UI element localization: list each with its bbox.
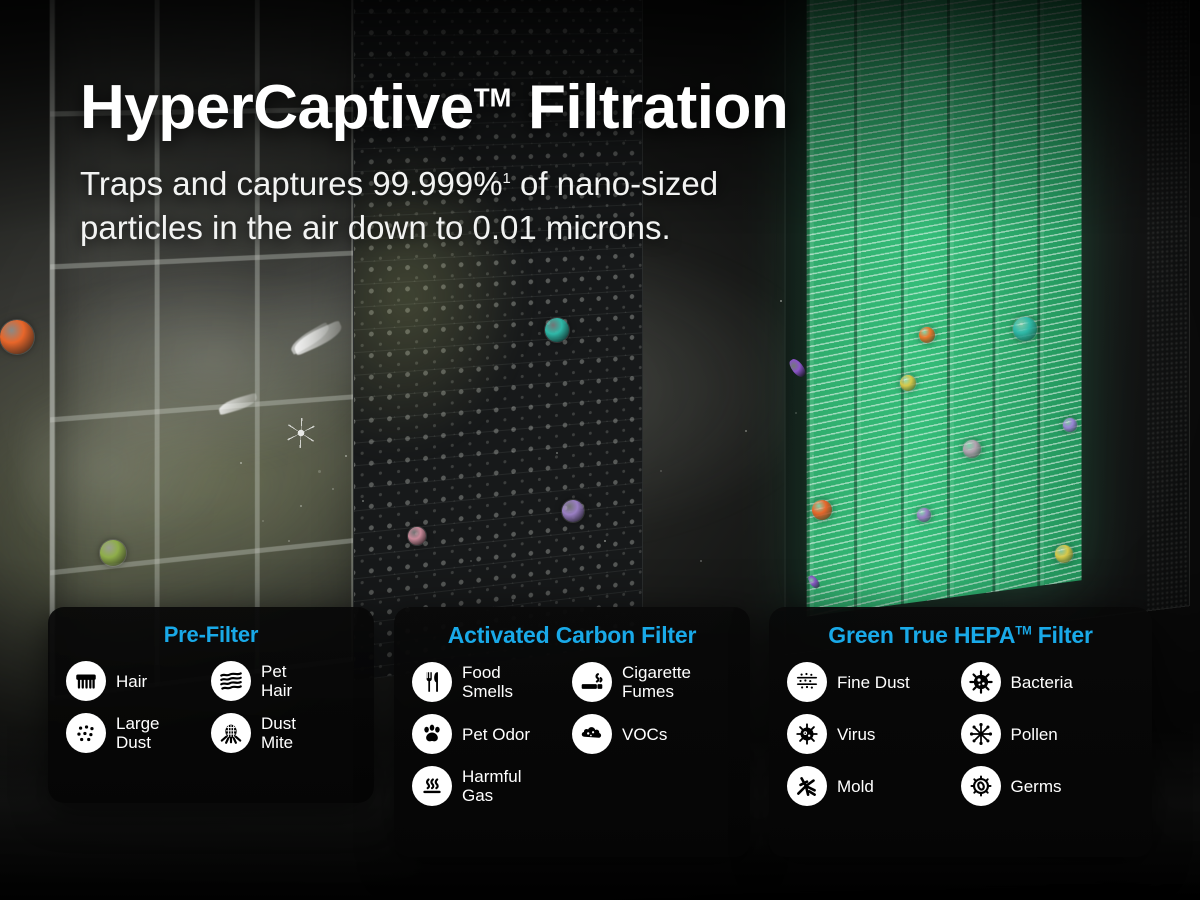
virus-particle-pink (408, 527, 426, 545)
hepa-trademark-symbol: TM (1015, 625, 1031, 637)
card-green-true-hepa-filter[interactable]: Green True HEPATM Filter Fine DustBacter… (769, 607, 1152, 857)
subline-part-1: Traps and captures 99.999% (80, 165, 503, 202)
feature-item-dust-mite: Dust Mite (211, 713, 356, 753)
fine-dust-speck (240, 462, 242, 464)
fine-dust-speck (345, 455, 347, 457)
virus-particle-violet (562, 500, 584, 522)
bacteria-yellow-2 (1055, 545, 1073, 563)
trademark-symbol: TM (474, 82, 512, 112)
virus-particle-teal-2 (1013, 317, 1037, 341)
hepa-title-main: Green True HEPA (828, 622, 1015, 648)
feature-label: Germs (1011, 777, 1062, 796)
harmful-gas-icon (412, 766, 452, 806)
fine-dust-speck (700, 560, 702, 562)
fine-dust-speck (318, 470, 321, 473)
subline-part-3: particles in the air down to 0.01 micron… (80, 209, 671, 246)
fine-dust-speck (288, 540, 290, 542)
fine-dust-speck (512, 600, 514, 602)
feature-item-virus: Virus (787, 714, 961, 754)
germs-icon (961, 766, 1001, 806)
feature-item-paw: Pet Odor (412, 714, 572, 754)
bacteria-yellow (900, 375, 916, 391)
comb-icon (66, 661, 106, 701)
feature-label: Bacteria (1011, 673, 1073, 692)
card-pre-filter[interactable]: Pre-Filter HairPet HairLarge DustDust Mi… (48, 607, 374, 803)
feature-item-mold: Mold (787, 766, 961, 806)
fine-dust-speck (660, 470, 662, 472)
feature-list-activated-carbon: Food SmellsCigarette FumesPet OdorVOCsHa… (412, 662, 732, 818)
card-title-activated-carbon: Activated Carbon Filter (412, 623, 732, 648)
infographic-stage: HyperCaptiveTM Filtration Traps and capt… (0, 0, 1200, 900)
feature-item-bacteria: Bacteria (961, 662, 1135, 702)
feature-label: Pet Hair (261, 662, 292, 700)
headline-rest: Filtration (511, 73, 788, 142)
virus-particle-teal (545, 318, 569, 342)
bacteria-icon (961, 662, 1001, 702)
hero-text-block: HyperCaptiveTM Filtration Traps and capt… (80, 76, 1120, 250)
virus-particle-orange (0, 320, 34, 354)
virus-particle-grey (963, 440, 981, 458)
fine-dust-speck (604, 540, 606, 542)
fine-dust-speck (745, 430, 747, 432)
fine-dust-speck (470, 560, 472, 562)
fine-dust-speck (262, 520, 264, 522)
fine-dust-speck (332, 488, 334, 490)
feature-label: Dust Mite (261, 714, 296, 752)
feature-item-large-dust: Large Dust (66, 713, 211, 753)
feature-label: Fine Dust (837, 673, 910, 692)
page-title: HyperCaptiveTM Filtration (80, 76, 1120, 140)
card-title-pre-filter: Pre-Filter (66, 623, 356, 647)
headline-main: HyperCaptive (80, 73, 474, 142)
feature-item-voc-cloud: VOCs (572, 714, 732, 754)
fine-dust-icon (787, 662, 827, 702)
cutlery-icon (412, 662, 452, 702)
paw-icon (412, 714, 452, 754)
voc-cloud-icon (572, 714, 612, 754)
fine-dust-speck (812, 455, 814, 457)
pollen-icon (961, 714, 1001, 754)
feature-item-comb: Hair (66, 661, 211, 701)
cigarette-icon (572, 662, 612, 702)
feature-item-pollen: Pollen (961, 714, 1135, 754)
hepa-title-suffix: Filter (1032, 622, 1093, 648)
card-title-green-true-hepa: Green True HEPATM Filter (787, 623, 1134, 648)
virus-particle-violet-2 (1063, 418, 1077, 432)
virus-particle-orange-3 (812, 500, 832, 520)
card-activated-carbon-filter[interactable]: Activated Carbon Filter Food SmellsCigar… (394, 607, 750, 857)
subline-part-2: of nano-sized (511, 165, 718, 202)
feature-label: Pollen (1011, 725, 1058, 744)
virus-particle-orange-2 (919, 327, 935, 343)
feature-label: Harmful Gas (462, 767, 522, 805)
fine-dust-speck (362, 500, 364, 502)
fine-dust-speck (300, 505, 302, 507)
feature-label: Mold (837, 777, 874, 796)
feature-item-harmful-gas: Harmful Gas (412, 766, 572, 806)
fine-dust-speck (556, 452, 558, 454)
fine-dust-speck (780, 300, 782, 302)
feature-item-fine-dust: Fine Dust (787, 662, 961, 702)
snowflake-dust-icon (286, 418, 316, 448)
feature-item-pet-hair: Pet Hair (211, 661, 356, 701)
feature-list-green-true-hepa: Fine DustBacteriaVirusPollenMoldGerms (787, 662, 1134, 818)
pollen-particle-green (100, 540, 126, 566)
feature-item-germs: Germs (961, 766, 1135, 806)
pet-hair-icon (211, 661, 251, 701)
footnote-marker: 1 (503, 171, 511, 187)
feature-label: Hair (116, 672, 147, 691)
feature-label: VOCs (622, 725, 667, 744)
feature-item-cutlery: Food Smells (412, 662, 572, 702)
hero-subtitle: Traps and captures 99.999%1 of nano-size… (80, 162, 860, 249)
feature-label: Pet Odor (462, 725, 530, 744)
feature-label: Large Dust (116, 714, 159, 752)
large-dust-icon (66, 713, 106, 753)
feature-item-cigarette: Cigarette Fumes (572, 662, 732, 702)
feature-label: Cigarette Fumes (622, 663, 691, 701)
virus-particle-violet-3 (917, 508, 931, 522)
feature-list-pre-filter: HairPet HairLarge DustDust Mite (66, 661, 356, 765)
virus-icon (787, 714, 827, 754)
dust-mite-icon (211, 713, 251, 753)
hepa-housing-grit (1146, 0, 1189, 610)
feature-label: Food Smells (462, 663, 513, 701)
fine-dust-speck (795, 412, 797, 414)
mold-icon (787, 766, 827, 806)
feature-label: Virus (837, 725, 875, 744)
